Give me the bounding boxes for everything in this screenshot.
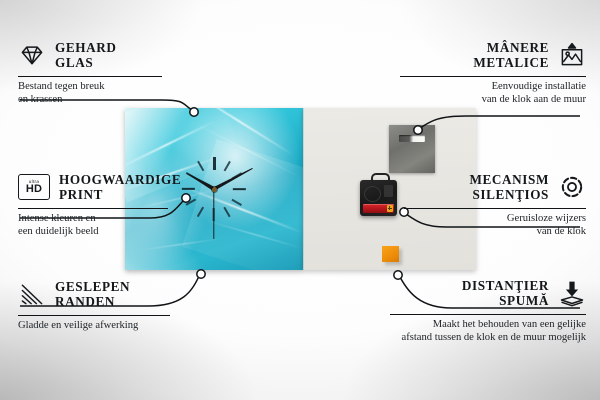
- feature-gehard-glas: GEHARD GLAS Bestand tegen breuk en krass…: [18, 40, 186, 106]
- clock-mechanism: [360, 180, 397, 216]
- feature-mecanism-silentios: MECANISM SILENŢIOS Geruisloze wijzers va…: [404, 172, 586, 238]
- feature-rule: [400, 76, 586, 77]
- feature-desc-1: Eenvoudige installatie: [400, 81, 586, 94]
- foam-spacer: [382, 246, 399, 262]
- feature-rule: [390, 314, 586, 315]
- feature-geslepen-randen: GESLEPEN RANDEN Gladde en veilige afwerk…: [18, 279, 190, 333]
- aa-battery: [363, 204, 394, 213]
- hanging-frame-icon: [558, 41, 586, 69]
- battery-plus-terminal: [387, 205, 393, 212]
- feature-title: GESLEPEN: [55, 279, 130, 294]
- leader-marker-geslepen-randen: [197, 270, 205, 278]
- spacer-down-arrow-icon: [558, 279, 586, 307]
- feature-title-2: RANDEN: [55, 294, 130, 309]
- feature-desc-2: afstand tussen de klok en de muur mogeli…: [390, 332, 586, 345]
- feature-rule: [18, 315, 170, 316]
- feature-desc-1: Bestand tegen breuk: [18, 81, 186, 94]
- feature-hoogwaardige-print: ultra HD HOOGWAARDIGE PRINT Intense kleu…: [18, 172, 194, 238]
- infographic-canvas: GEHARD GLAS Bestand tegen breuk en krass…: [0, 0, 600, 400]
- metal-hanger-plate: [389, 125, 435, 173]
- mechanism-housing-block: [384, 185, 393, 197]
- feature-title: MECANISM: [469, 172, 549, 187]
- ultra-hd-big-label: HD: [26, 184, 42, 195]
- feature-title: MÂNERE: [473, 40, 549, 55]
- feature-desc-1: Geruisloze wijzers: [404, 213, 586, 226]
- feature-title: HOOGWAARDIGE: [59, 172, 181, 187]
- feature-title: DISTANŢIER: [462, 278, 549, 293]
- feature-title-2: PRINT: [59, 187, 181, 202]
- hanger-slot: [399, 135, 425, 142]
- ultra-hd-icon: ultra HD: [18, 174, 50, 200]
- mechanism-hanging-loop: [371, 173, 390, 184]
- feature-rule: [18, 76, 162, 77]
- gear-icon: [558, 173, 586, 201]
- feature-title-2: SPUMĂ: [462, 293, 549, 308]
- feature-rule: [18, 208, 168, 209]
- beveled-edge-icon: [18, 280, 46, 308]
- feature-desc-2: van de klok aan de muur: [400, 94, 586, 107]
- feature-desc-2: en krassen: [18, 94, 186, 107]
- feature-rule: [404, 208, 586, 209]
- feature-title: GEHARD: [55, 40, 116, 55]
- feature-desc-1: Gladde en veilige afwerking: [18, 320, 190, 333]
- feature-desc-1: Intense kleuren en: [18, 213, 194, 226]
- diamond-icon: [18, 41, 46, 69]
- feature-manere-metalice: MÂNERE METALICE Eenvoudige installatie v…: [400, 40, 586, 106]
- clock-center-cap: [212, 187, 217, 192]
- feature-desc-1: Maakt het behouden van een gelijke: [390, 319, 586, 332]
- feature-title-2: METALICE: [473, 55, 549, 70]
- feature-desc-2: een duidelijk beeld: [18, 226, 194, 239]
- feature-title-2: GLAS: [55, 55, 116, 70]
- mechanism-dial: [364, 186, 381, 202]
- feature-title-2: SILENŢIOS: [469, 187, 549, 202]
- feature-desc-2: van de klok: [404, 226, 586, 239]
- feature-distantier-spuma: DISTANŢIER SPUMĂ Maakt het behouden van …: [390, 278, 586, 344]
